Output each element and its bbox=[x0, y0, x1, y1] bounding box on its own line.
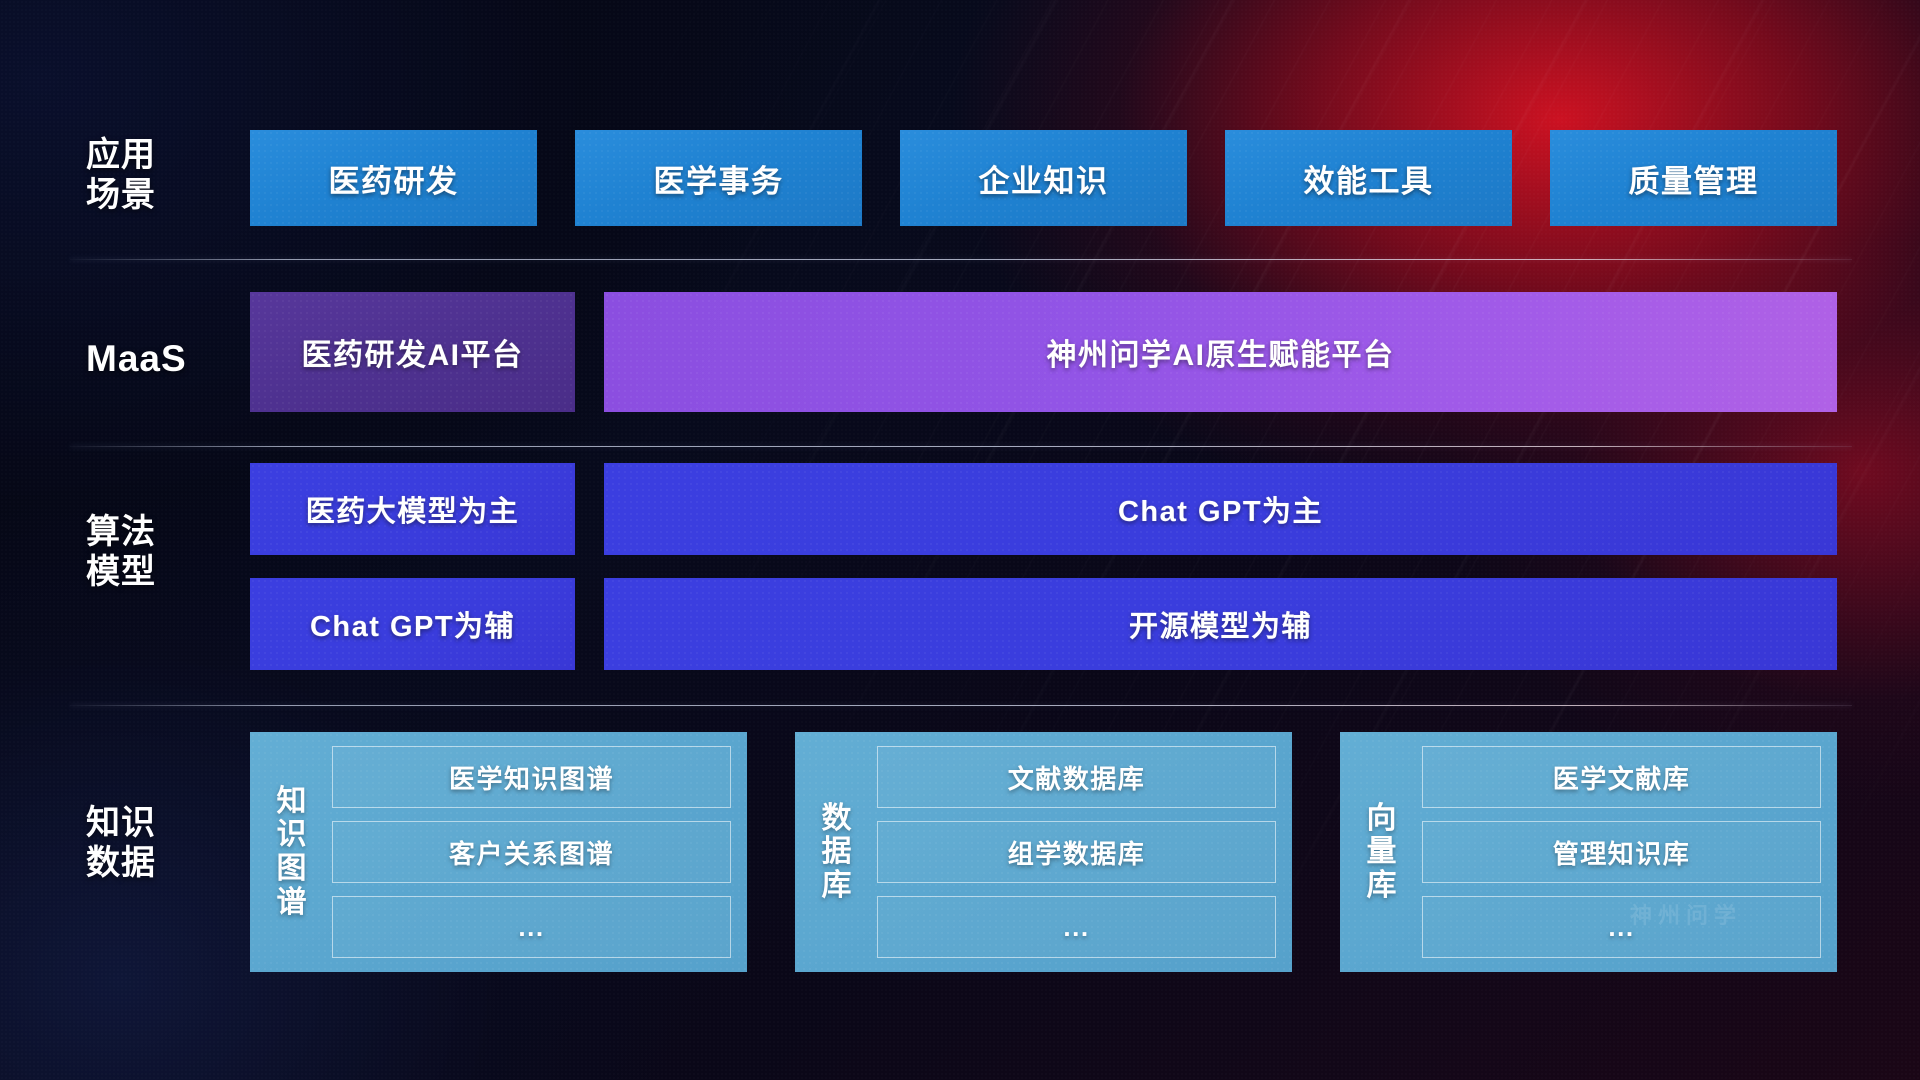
row-label-line: 模型 bbox=[86, 552, 236, 592]
algo-card-opensource-secondary[interactable]: 开源模型为辅 bbox=[604, 578, 1837, 670]
algo-card-chatgpt-secondary[interactable]: Chat GPT为辅 bbox=[250, 578, 575, 670]
maas-card-medical-ai-platform[interactable]: 医药研发AI平台 bbox=[250, 292, 575, 412]
knowledge-item[interactable]: ... bbox=[332, 896, 731, 958]
knowledge-item[interactable]: ... bbox=[877, 896, 1276, 958]
row-label-knowledge-data: 知识 数据 bbox=[86, 803, 236, 883]
knowledge-panel-title: 向量库 bbox=[1356, 746, 1408, 958]
app-scenario-card-1[interactable]: 医药研发 bbox=[250, 130, 537, 226]
row-label-maas: MaaS bbox=[86, 337, 236, 381]
app-scenario-card-2[interactable]: 医学事务 bbox=[575, 130, 862, 226]
knowledge-item[interactable]: 组学数据库 bbox=[877, 821, 1276, 883]
maas-card-label: 神州问学AI原生赋能平台 bbox=[1047, 330, 1395, 374]
knowledge-item[interactable]: 医学文献库 bbox=[1422, 746, 1821, 808]
knowledge-panel-knowledge-graph[interactable]: 知识图谱 医学知识图谱 客户关系图谱 ... bbox=[250, 732, 747, 972]
app-scenario-label: 医学事务 bbox=[654, 156, 784, 201]
app-scenario-card-5[interactable]: 质量管理 bbox=[1550, 130, 1837, 226]
algo-card-medical-llm-primary[interactable]: 医药大模型为主 bbox=[250, 463, 575, 555]
knowledge-item[interactable]: 医学知识图谱 bbox=[332, 746, 731, 808]
knowledge-item[interactable]: 客户关系图谱 bbox=[332, 821, 731, 883]
row-label-line: 知识 bbox=[86, 803, 236, 843]
algo-card-label: 开源模型为辅 bbox=[1129, 603, 1312, 645]
row-label-line: 数据 bbox=[86, 843, 236, 883]
row-label-application-scenarios: 应用 场景 bbox=[86, 135, 236, 215]
algo-card-label: Chat GPT为主 bbox=[1118, 488, 1323, 530]
maas-card-enabling-platform[interactable]: 神州问学AI原生赋能平台 bbox=[604, 292, 1837, 412]
maas-card-label: 医药研发AI平台 bbox=[302, 330, 524, 374]
row-divider-1 bbox=[70, 259, 1852, 260]
algo-card-label: Chat GPT为辅 bbox=[310, 603, 515, 645]
app-scenario-label: 质量管理 bbox=[1629, 156, 1759, 201]
knowledge-panel-items: 文献数据库 组学数据库 ... bbox=[877, 746, 1276, 958]
row-label-algorithm-model: 算法 模型 bbox=[86, 512, 236, 592]
knowledge-panel-title: 数据库 bbox=[811, 746, 863, 958]
row-label-line: 场景 bbox=[86, 175, 236, 215]
row-divider-2 bbox=[70, 446, 1852, 447]
knowledge-item[interactable]: 文献数据库 bbox=[877, 746, 1276, 808]
app-scenario-label: 医药研发 bbox=[329, 156, 459, 201]
knowledge-item[interactable]: ... bbox=[1422, 896, 1821, 958]
algo-card-label: 医药大模型为主 bbox=[306, 488, 520, 530]
app-scenario-label: 效能工具 bbox=[1304, 156, 1434, 201]
architecture-diagram: 应用 场景 医药研发 医学事务 企业知识 效能工具 质量管理 MaaS bbox=[0, 0, 1920, 1080]
app-scenario-label: 企业知识 bbox=[979, 156, 1109, 201]
knowledge-item[interactable]: 管理知识库 bbox=[1422, 821, 1821, 883]
knowledge-panel-vector-store[interactable]: 向量库 医学文献库 管理知识库 ... bbox=[1340, 732, 1837, 972]
knowledge-panel-title: 知识图谱 bbox=[266, 746, 318, 958]
knowledge-panel-items: 医学文献库 管理知识库 ... bbox=[1422, 746, 1821, 958]
row-label-line: 应用 bbox=[86, 135, 236, 175]
app-scenario-card-3[interactable]: 企业知识 bbox=[900, 130, 1187, 226]
row-label-line: 算法 bbox=[86, 512, 236, 552]
knowledge-panel-database[interactable]: 数据库 文献数据库 组学数据库 ... bbox=[795, 732, 1292, 972]
row-divider-3 bbox=[70, 705, 1852, 706]
app-scenario-card-4[interactable]: 效能工具 bbox=[1225, 130, 1512, 226]
knowledge-panel-items: 医学知识图谱 客户关系图谱 ... bbox=[332, 746, 731, 958]
algo-card-chatgpt-primary[interactable]: Chat GPT为主 bbox=[604, 463, 1837, 555]
row-label-line: MaaS bbox=[86, 337, 236, 381]
